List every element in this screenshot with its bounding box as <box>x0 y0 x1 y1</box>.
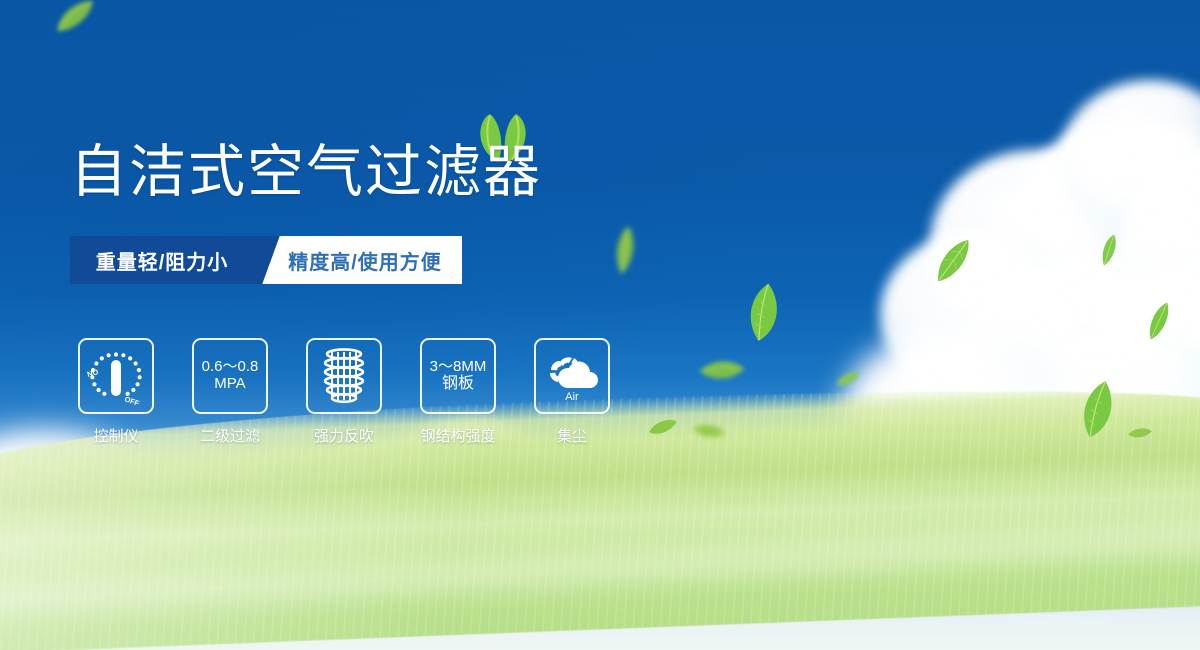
feature-label: 控制仪 <box>93 425 138 446</box>
tagline-left: 重量轻/阻力小 <box>70 236 254 284</box>
svg-text:OFF: OFF <box>123 394 141 406</box>
feature-item-dust-collection[interactable]: Air 集尘 <box>534 338 610 446</box>
feature-item-two-stage-filter[interactable]: 0.6～0.8 MPA 二级过滤 <box>192 338 268 446</box>
floating-leaf-icon <box>1127 423 1153 442</box>
feature-list: NO OFF 控制仪 0.6～0.8 MPA 二级过滤 <box>78 338 610 446</box>
feature-label: 强力反吹 <box>314 425 374 446</box>
feature-item-strong-backblow[interactable]: 强力反吹 <box>306 338 382 446</box>
pressure-value: 0.6～0.8 <box>202 359 259 376</box>
tagline-bar: 重量轻/阻力小 精度高/使用方便 <box>70 236 462 284</box>
steel-plate-text-icon: 3～8MM 钢板 <box>420 338 496 414</box>
feature-label: 集尘 <box>557 425 587 446</box>
pressure-text-icon: 0.6～0.8 MPA <box>192 338 268 414</box>
steel-thickness: 3～8MM <box>430 359 487 376</box>
svg-text:Air: Air <box>565 391 579 403</box>
feature-item-steel-strength[interactable]: 3～8MM 钢板 钢结构强度 <box>420 338 496 446</box>
gauge-dial-icon: NO OFF <box>78 338 154 414</box>
svg-text:NO: NO <box>86 367 99 379</box>
floating-leaf-icon <box>647 416 679 437</box>
pressure-unit: MPA <box>214 376 245 393</box>
feature-label: 二级过滤 <box>200 425 260 446</box>
page-title: 自洁式空气过滤器 <box>70 144 542 201</box>
feature-label: 钢结构强度 <box>420 425 495 446</box>
feature-item-controller[interactable]: NO OFF 控制仪 <box>78 338 154 446</box>
cloud-air-icon: Air <box>534 338 610 414</box>
promo-banner: 自洁式空气过滤器 重量轻/阻力小 精度高/使用方便 <box>0 0 1200 650</box>
filter-cartridge-coil-icon <box>306 338 382 414</box>
steel-material: 钢板 <box>442 375 474 393</box>
tagline-right: 精度高/使用方便 <box>254 236 462 284</box>
